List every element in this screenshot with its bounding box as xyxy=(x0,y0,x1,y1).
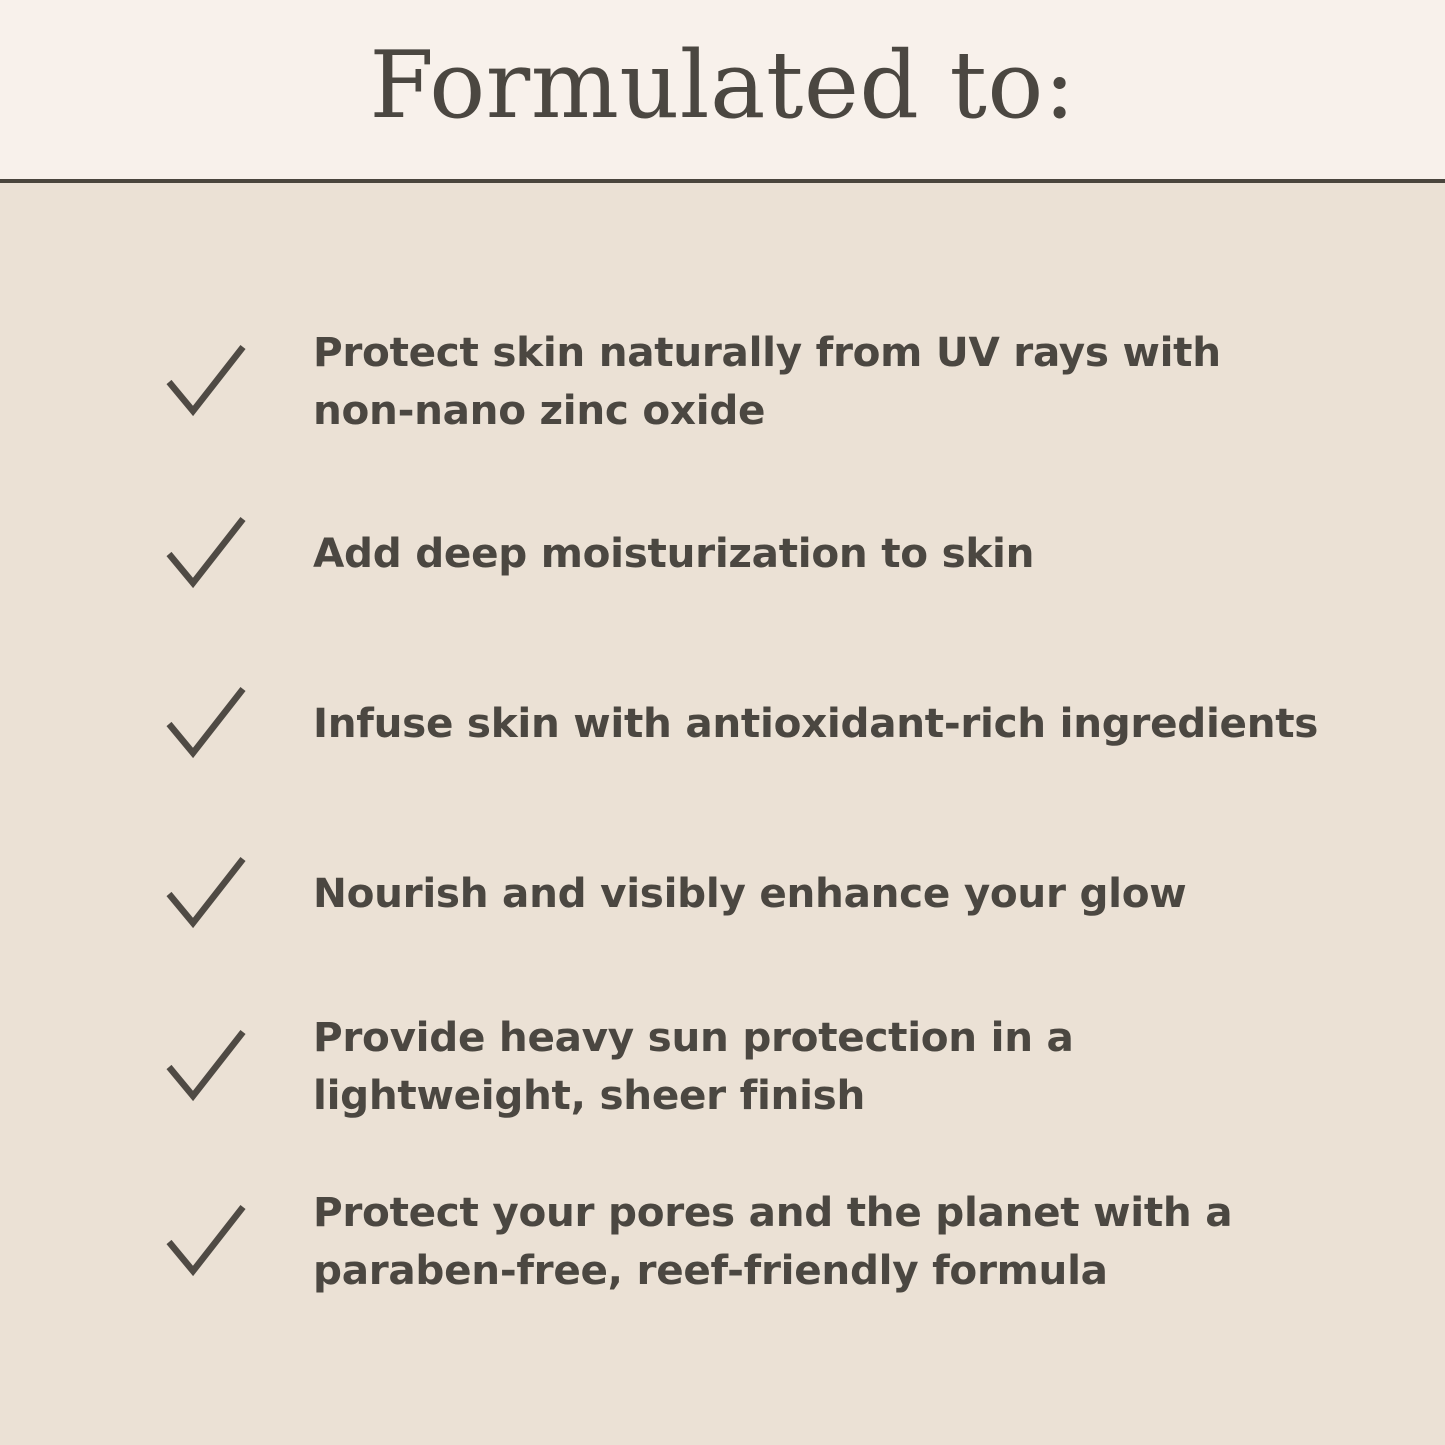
formulated-to-panel: Formulated to: Protect skin naturally fr… xyxy=(0,0,1445,1445)
benefit-list: Protect skin naturally from UV rays with… xyxy=(0,293,1445,1328)
benefit-line: Add deep moisturization to skin xyxy=(313,524,1445,582)
benefit-text: Infuse skin with antioxidant-rich ingred… xyxy=(281,694,1445,752)
benefit-text: Provide heavy sun protection in a lightw… xyxy=(281,1008,1445,1124)
list-item: Protect your pores and the planet with a… xyxy=(0,1153,1445,1328)
checkmark-icon xyxy=(163,503,281,603)
benefit-line: paraben-free, reef-friendly formula xyxy=(313,1241,1445,1299)
benefit-text: Protect your pores and the planet with a… xyxy=(281,1183,1445,1299)
benefit-text: Nourish and visibly enhance your glow xyxy=(281,864,1445,922)
benefits-section: Protect skin naturally from UV rays with… xyxy=(0,183,1445,1445)
benefit-line: non-nano zinc oxide xyxy=(313,381,1445,439)
header-band: Formulated to: xyxy=(0,0,1445,179)
list-item: Provide heavy sun protection in a lightw… xyxy=(0,978,1445,1153)
benefit-line: Nourish and visibly enhance your glow xyxy=(313,864,1445,922)
checkmark-icon xyxy=(163,1191,281,1291)
checkmark-icon xyxy=(163,331,281,431)
checkmark-icon xyxy=(163,1016,281,1116)
benefit-line: lightweight, sheer finish xyxy=(313,1066,1445,1124)
benefit-line: Protect your pores and the planet with a xyxy=(313,1183,1445,1241)
benefit-text: Add deep moisturization to skin xyxy=(281,524,1445,582)
list-item: Infuse skin with antioxidant-rich ingred… xyxy=(0,638,1445,808)
benefit-line: Infuse skin with antioxidant-rich ingred… xyxy=(313,694,1445,752)
benefit-line: Protect skin naturally from UV rays with xyxy=(313,323,1445,381)
page-title: Formulated to: xyxy=(369,39,1075,140)
benefit-text: Protect skin naturally from UV rays with… xyxy=(281,323,1445,439)
list-item: Add deep moisturization to skin xyxy=(0,468,1445,638)
list-item: Protect skin naturally from UV rays with… xyxy=(0,293,1445,468)
checkmark-icon xyxy=(163,673,281,773)
benefit-line: Provide heavy sun protection in a xyxy=(313,1008,1445,1066)
checkmark-icon xyxy=(163,843,281,943)
list-item: Nourish and visibly enhance your glow xyxy=(0,808,1445,978)
